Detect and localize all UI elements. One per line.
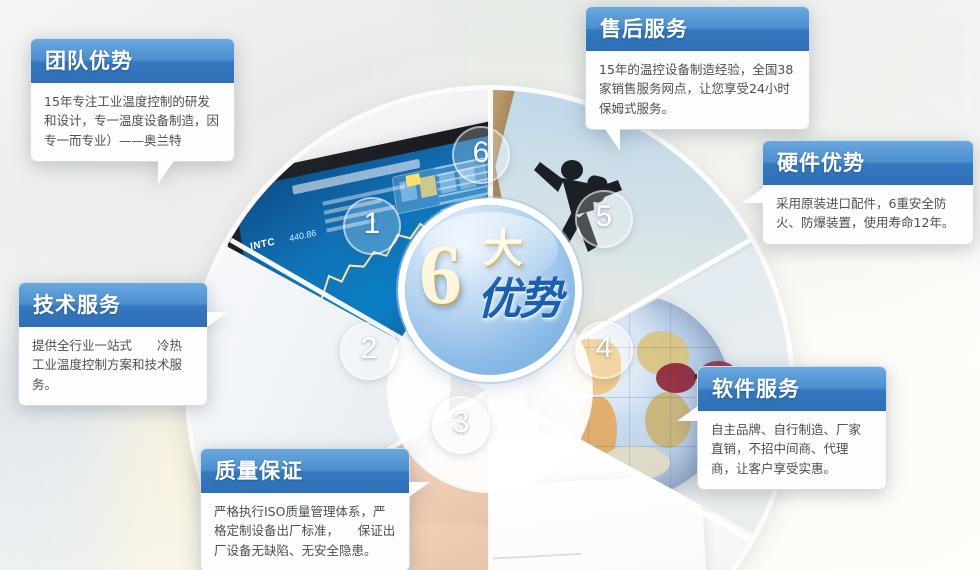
center-subtitle: 优势	[477, 277, 561, 323]
callout-quality-assurance[interactable]: 质量保证 严格执行ISO质量管理体系，严格定制设备出厂标准， 保证出厂设备无缺陷…	[200, 448, 410, 570]
center-logo: 6 大 优势	[405, 205, 575, 375]
callout-pointer	[677, 406, 698, 421]
center-big-char: 大	[483, 229, 523, 269]
callout-pointer	[742, 188, 763, 203]
callout-body: 采用原装进口配件，6重安全防火、防爆装置，使用寿命12年。	[763, 185, 973, 244]
callout-team-advantage[interactable]: 团队优势 15年专注工业温度控制的研发和设计，专一温度设备制造，因专一而专业）—…	[30, 38, 235, 162]
callout-body: 提供全行业一站式 冷热工业温度控制方案和技术服务。	[19, 327, 207, 405]
callout-body: 严格执行ISO质量管理体系，严格定制设备出厂标准， 保证出厂设备无缺陷、无安全隐…	[201, 493, 409, 570]
center-number: 6	[419, 231, 462, 317]
callout-title: 团队优势	[31, 39, 234, 83]
callout-hardware-advantage[interactable]: 硬件优势 采用原装进口配件，6重安全防火、防爆装置，使用寿命12年。	[762, 140, 974, 245]
callout-body: 自主品牌、自行制造、厂家直销，不招中间商、代理商，让客户享受实惠。	[698, 411, 886, 489]
poster-canvas: INTC 440.86	[0, 0, 980, 570]
callout-software-service[interactable]: 软件服务 自主品牌、自行制造、厂家直销，不招中间商、代理商，让客户享受实惠。	[697, 366, 887, 490]
badge-6[interactable]: 6	[452, 126, 510, 184]
callout-title: 售后服务	[586, 7, 809, 51]
callout-title: 技术服务	[19, 283, 207, 327]
callout-body: 15年专注工业温度控制的研发和设计，专一温度设备制造，因专一而专业）——奥兰特	[31, 83, 234, 161]
callout-after-sales[interactable]: 售后服务 15年的温控设备制造经验，全国38家销售服务网点，让您享受24小时保姆…	[585, 6, 810, 130]
callout-pointer	[207, 312, 228, 327]
badge-4[interactable]: 4	[575, 321, 633, 379]
badge-3[interactable]: 3	[432, 396, 490, 454]
callout-pointer	[409, 482, 430, 497]
callout-title: 硬件优势	[763, 141, 973, 185]
badge-5[interactable]: 5	[575, 190, 633, 248]
callout-body: 15年的温控设备制造经验，全国38家销售服务网点，让您享受24小时保姆式服务。	[586, 51, 809, 129]
badge-1[interactable]: 1	[343, 197, 401, 255]
callout-title: 软件服务	[698, 367, 886, 411]
callout-title: 质量保证	[201, 449, 409, 493]
callout-pointer	[158, 161, 174, 184]
callout-technical-service[interactable]: 技术服务 提供全行业一站式 冷热工业温度控制方案和技术服务。	[18, 282, 208, 406]
badge-2[interactable]: 2	[340, 322, 398, 380]
callout-pointer	[605, 129, 620, 151]
